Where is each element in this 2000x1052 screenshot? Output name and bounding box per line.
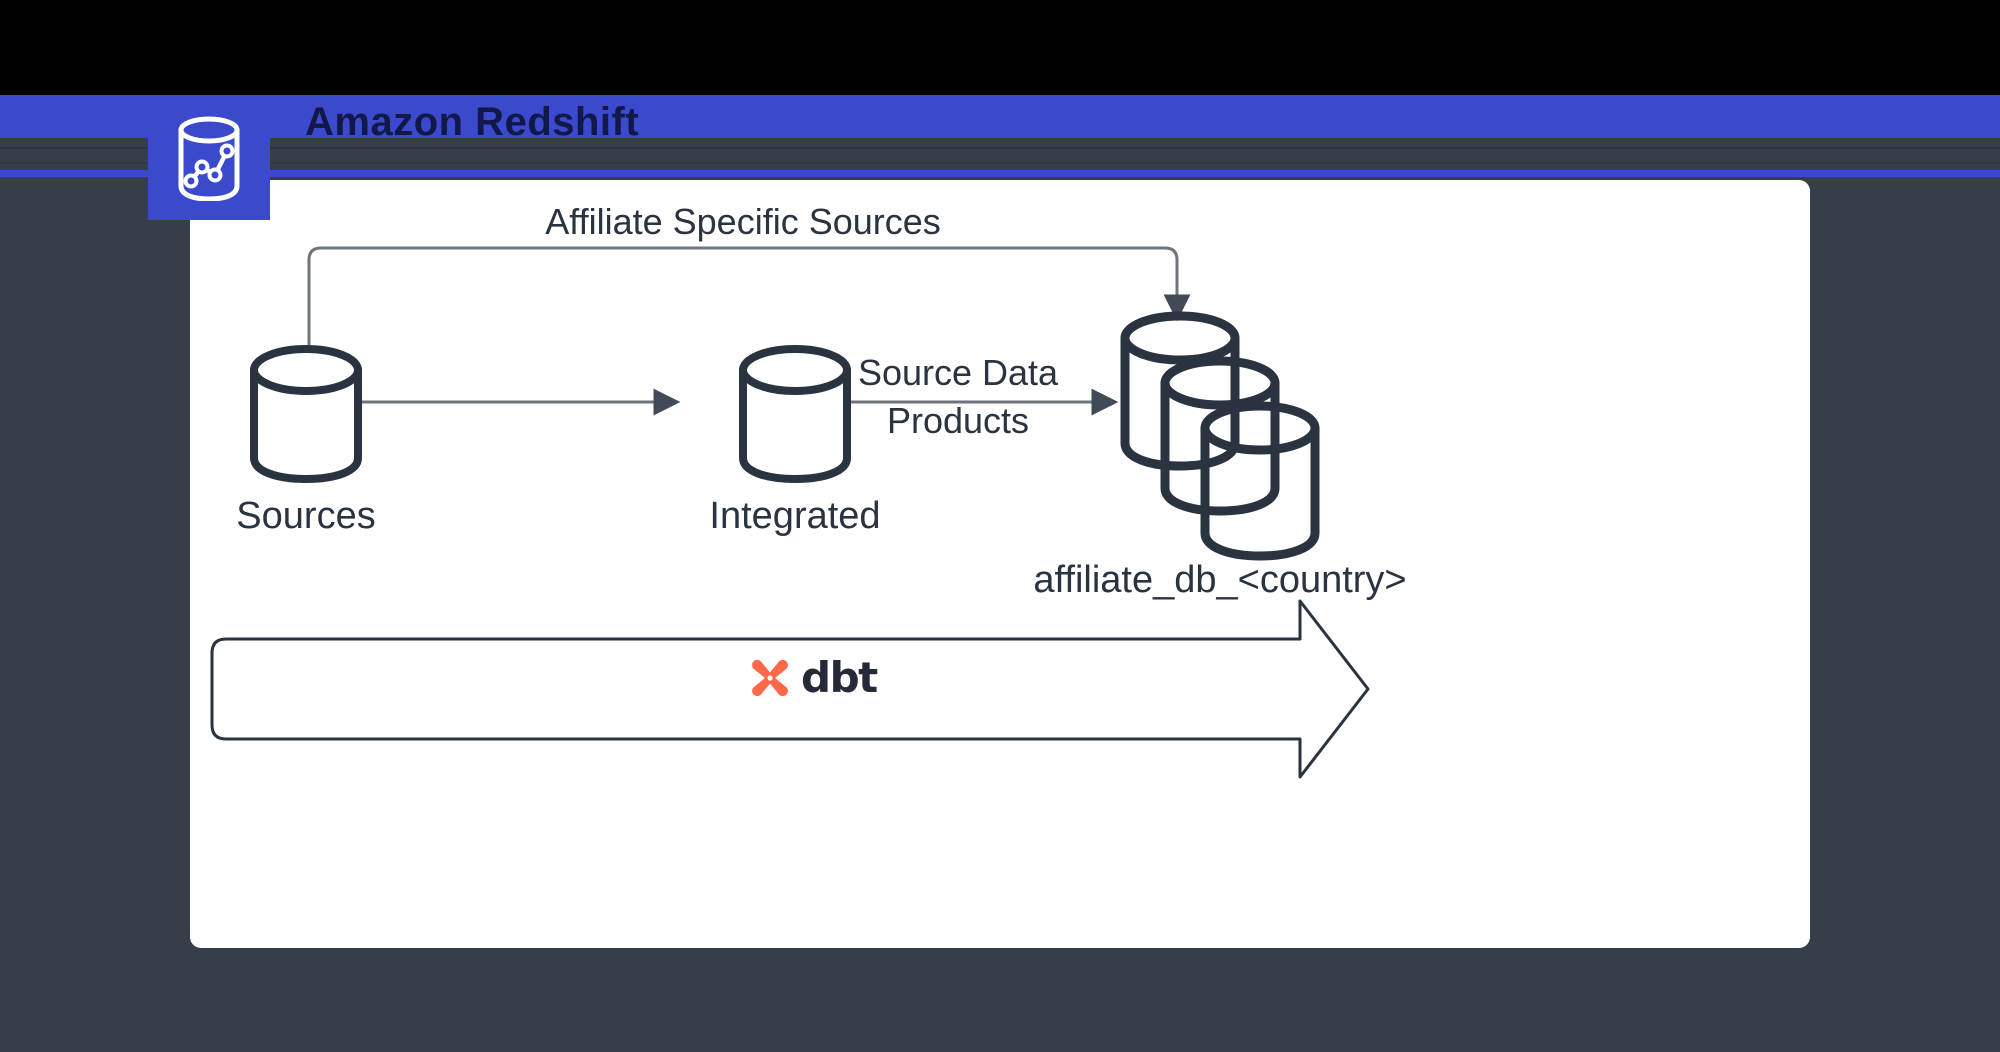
dbt-logo: dbt bbox=[748, 656, 877, 700]
header-gap bbox=[0, 138, 2000, 170]
header-hairline-a bbox=[0, 147, 2000, 149]
dbt-wordmark: dbt bbox=[801, 657, 877, 699]
diagram-card: Affiliate Specific Sources Source Data P… bbox=[190, 180, 1810, 948]
node-integrated-cylinder bbox=[743, 349, 847, 479]
page-title: Amazon Redshift bbox=[305, 96, 639, 148]
node-sources-cylinder bbox=[254, 349, 358, 479]
affiliate-db-cylinder-3 bbox=[1205, 406, 1315, 556]
header-accent-line bbox=[0, 170, 2000, 177]
affiliate-db-cylinder-2 bbox=[1165, 361, 1275, 511]
header-hairline-b bbox=[0, 162, 2000, 164]
edge-label-affiliate-specific-sources: Affiliate Specific Sources bbox=[545, 201, 941, 242]
letterbox-top bbox=[0, 0, 2000, 95]
node-affiliate-db-stack bbox=[1125, 316, 1315, 556]
edge-label-source-data-line2: Products bbox=[887, 400, 1029, 441]
architecture-diagram: Affiliate Specific Sources Source Data P… bbox=[190, 180, 1810, 948]
redshift-database-analytics-icon bbox=[171, 115, 247, 201]
node-label-integrated: Integrated bbox=[709, 495, 880, 537]
node-label-sources: Sources bbox=[236, 495, 375, 537]
edge-label-source-data-line1: Source Data bbox=[858, 352, 1059, 393]
header-band bbox=[0, 95, 2000, 138]
redshift-icon-tile bbox=[148, 95, 270, 220]
dbt-x-mark-icon bbox=[748, 656, 792, 700]
screenshot-root: Amazon Redshift Affiliate Specifi bbox=[0, 0, 2000, 1052]
node-label-affiliate-db: affiliate_db_<country> bbox=[1033, 559, 1406, 601]
